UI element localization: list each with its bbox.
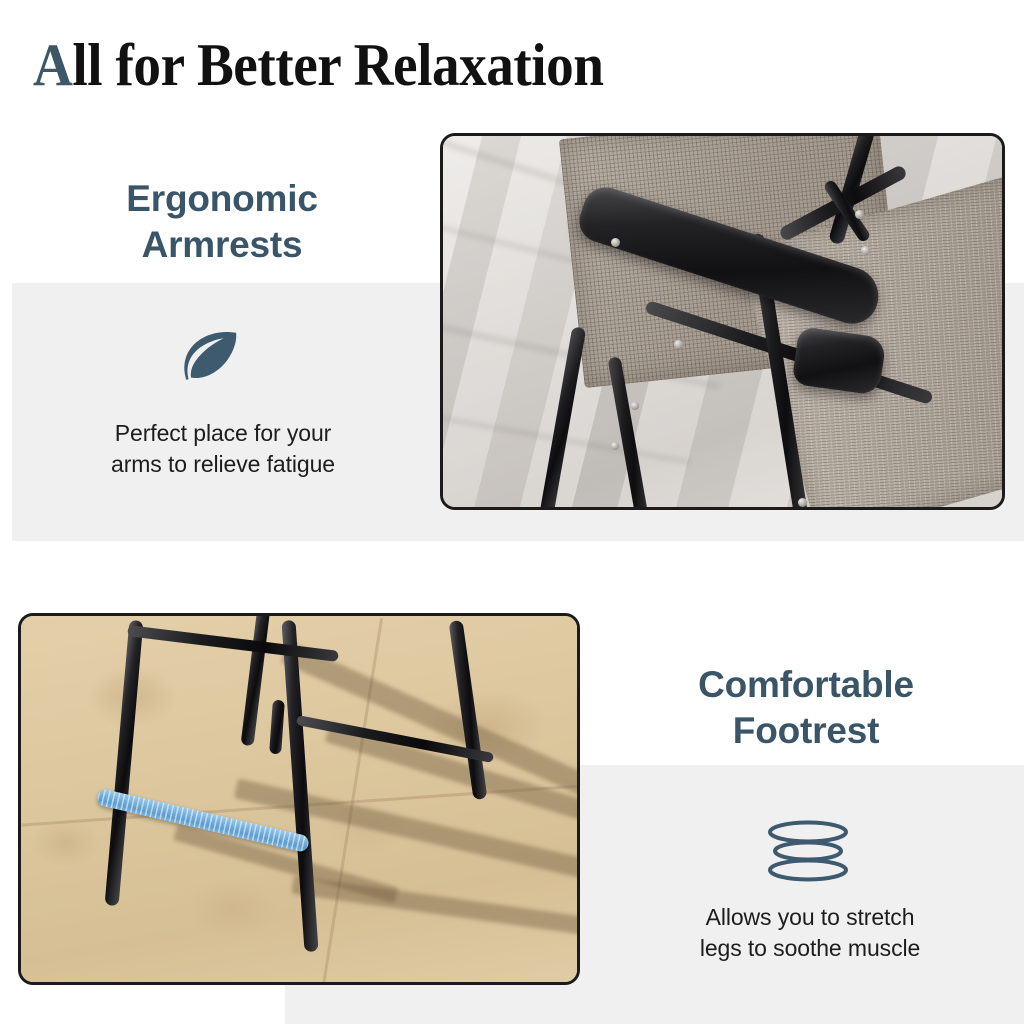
feature-heading-footrest: Comfortable Footrest	[632, 662, 980, 754]
feature-heading-armrests: Ergonomic Armrests	[72, 176, 372, 268]
page-title: All for Better Relaxation	[33, 33, 604, 97]
feature-caption-armrests-line1: Perfect place for your	[58, 418, 388, 449]
photo-armrest	[440, 133, 1005, 510]
feature-caption-footrest-line2: legs to soothe muscle	[640, 933, 980, 964]
rivet	[855, 210, 864, 219]
page-title-rest: ll for Better Relaxation	[72, 32, 603, 98]
rivet	[611, 238, 620, 247]
rivet	[611, 442, 619, 450]
feature-caption-armrests: Perfect place for your arms to relieve f…	[58, 418, 388, 480]
spring-coil-icon	[762, 820, 854, 882]
leaf-icon	[178, 326, 240, 388]
product-feature-infographic: All for Better Relaxation Ergonomic Armr…	[0, 0, 1024, 1024]
feature-heading-armrests-line2: Armrests	[72, 222, 372, 268]
rivet	[798, 498, 807, 507]
photo-footrest	[18, 613, 580, 985]
feature-caption-armrests-line2: arms to relieve fatigue	[58, 449, 388, 480]
feature-heading-armrests-line1: Ergonomic	[72, 176, 372, 222]
feature-caption-footrest-line1: Allows you to stretch	[640, 902, 980, 933]
rivet	[674, 340, 683, 349]
armrest-pad-end	[791, 326, 886, 396]
page-title-accent-letter: A	[33, 32, 72, 98]
rivet	[861, 246, 870, 255]
feature-heading-footrest-line2: Footrest	[632, 708, 980, 754]
feature-caption-footrest: Allows you to stretch legs to soothe mus…	[640, 902, 980, 964]
feature-heading-footrest-line1: Comfortable	[632, 662, 980, 708]
rivet	[631, 402, 639, 410]
